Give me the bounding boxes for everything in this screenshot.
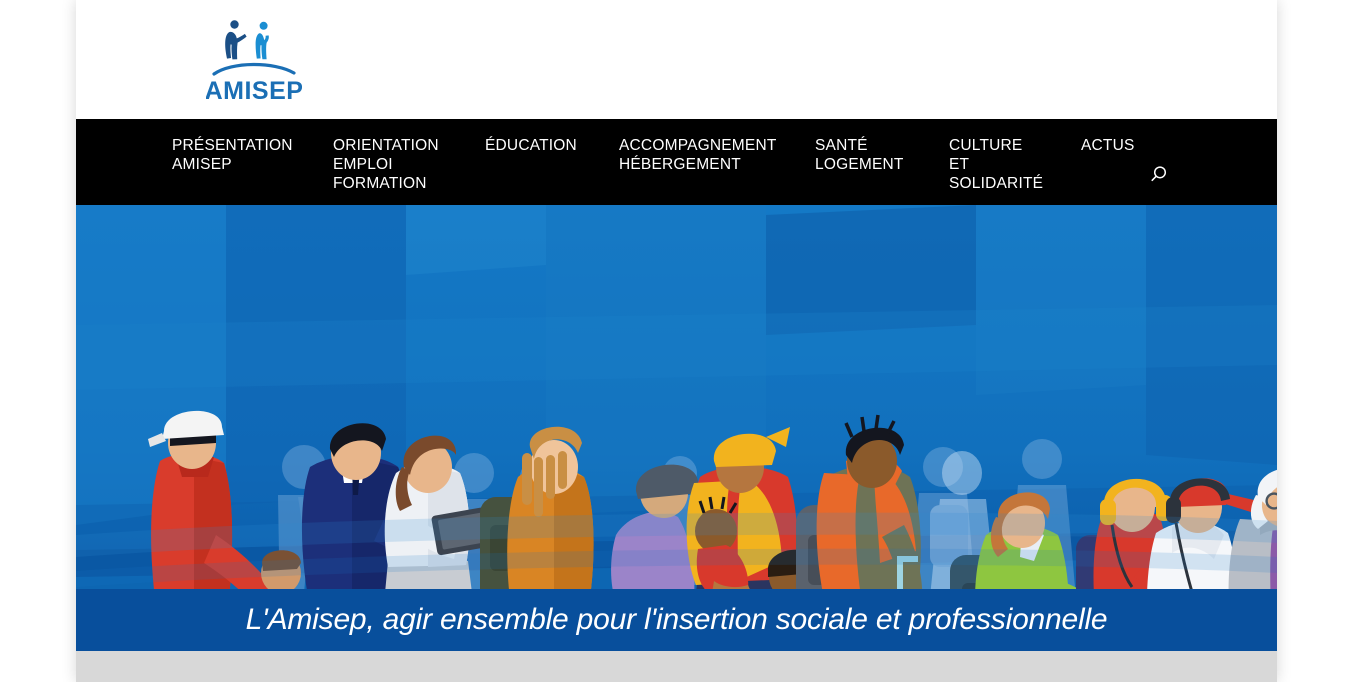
nav-item-presentation-amisep[interactable]: PRÉSENTATION AMISEP	[172, 136, 333, 174]
logo-wordmark: AMISEP	[206, 77, 302, 105]
amisep-logo[interactable]: AMISEP	[206, 13, 302, 105]
hero-caption-band: L'Amisep, agir ensemble pour l'insertion…	[76, 589, 1277, 651]
hero-banner: L'Amisep, agir ensemble pour l'insertion…	[76, 205, 1277, 651]
nav-list: PRÉSENTATION AMISEP ORIENTATION EMPLOI F…	[172, 136, 1171, 193]
site-header: AMISEP	[76, 0, 1277, 119]
logo-figure-left-icon	[225, 20, 246, 59]
logo-figure-right-icon	[256, 22, 269, 60]
nav-item-accompagnement-hebergement[interactable]: ACCOMPAGNEMENT HÉBERGEMENT	[619, 136, 815, 174]
search-icon[interactable]	[1144, 161, 1172, 189]
logo-arc-icon	[214, 64, 294, 74]
page-root: AMISEP PRÉSENTATION AMISEP ORIENTATION E…	[0, 0, 1366, 682]
content-below-strip	[76, 651, 1277, 682]
hero-caption-text: L'Amisep, agir ensemble pour l'insertion…	[246, 603, 1108, 637]
nav-item-actus[interactable]: ACTUS	[1081, 136, 1171, 155]
nav-item-sante-logement[interactable]: SANTÉ LOGEMENT	[815, 136, 949, 174]
nav-item-orientation-emploi-formation[interactable]: ORIENTATION EMPLOI FORMATION	[333, 136, 485, 193]
nav-item-culture-et-solidarite[interactable]: CULTURE ET SOLIDARITÉ	[949, 136, 1081, 193]
site-content-column: AMISEP PRÉSENTATION AMISEP ORIENTATION E…	[76, 0, 1277, 682]
main-navigation: PRÉSENTATION AMISEP ORIENTATION EMPLOI F…	[76, 119, 1277, 205]
nav-item-education[interactable]: ÉDUCATION	[485, 136, 619, 155]
hero-illustration	[76, 205, 1277, 651]
